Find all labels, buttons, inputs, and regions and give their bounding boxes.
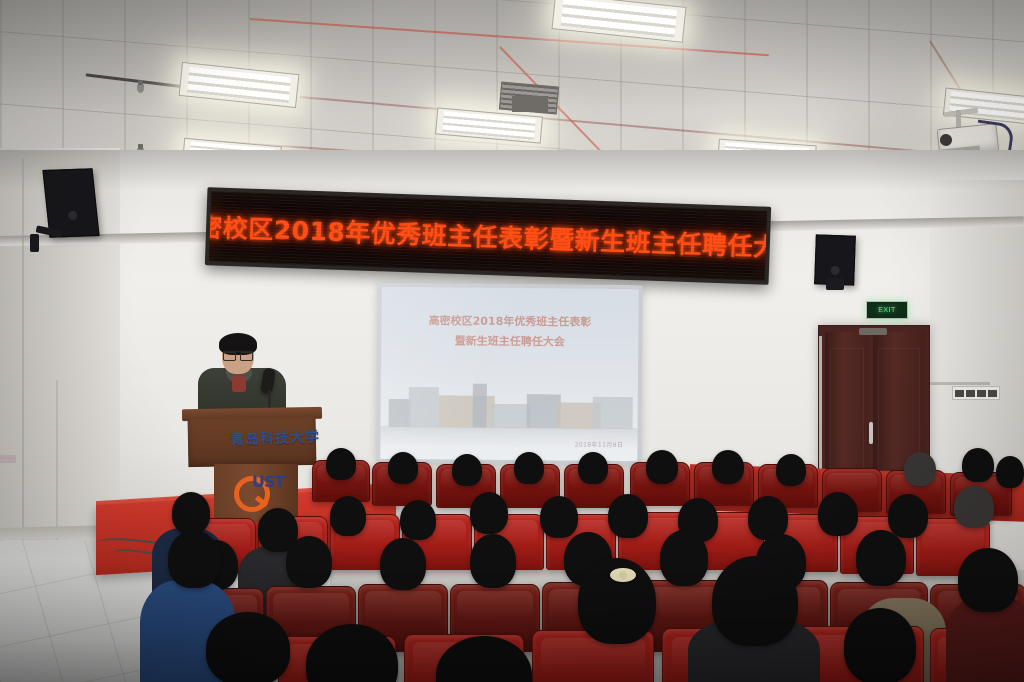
audience-head <box>660 530 708 586</box>
led-banner-text: 高密校区2018年优秀班主任表彰暨新生班主任聘任大会 <box>205 207 771 265</box>
audience-head <box>818 492 858 536</box>
audience-head <box>168 530 220 588</box>
loudspeaker-left <box>42 168 99 237</box>
audience-head <box>578 452 608 484</box>
audience-head <box>776 454 806 486</box>
glasses-icon <box>223 351 253 359</box>
audience-head <box>844 608 916 682</box>
audience-head <box>958 548 1018 612</box>
audience-head <box>400 500 436 540</box>
audience-head <box>962 448 994 482</box>
audience-head <box>206 612 290 682</box>
slide-title-line2: 暨新生班主任聘任大会 <box>381 331 638 353</box>
audience-head <box>712 556 798 646</box>
presenter-shirt <box>232 376 246 392</box>
ceiling-vent <box>512 96 548 112</box>
audience-head <box>856 530 906 586</box>
audience-head <box>172 492 210 534</box>
audience-head <box>888 494 928 538</box>
audience-head <box>954 486 994 528</box>
audience-head <box>286 536 332 588</box>
light-switch[interactable] <box>977 390 986 397</box>
audience-head <box>470 492 508 534</box>
audience-head <box>646 450 678 484</box>
sprinkler-head <box>137 84 144 93</box>
audience-head <box>996 456 1024 488</box>
audience-head <box>904 452 936 486</box>
audience-head <box>608 494 648 538</box>
auditorium-photo: 高密校区2018年优秀班主任表彰暨新生班主任聘任大会 高密校区2018年优秀班主… <box>0 0 1024 682</box>
speaker-bracket-right <box>826 278 844 290</box>
audience-area <box>0 430 1024 682</box>
slide-title: 高密校区2018年优秀班主任表彰 暨新生班主任聘任大会 <box>381 311 638 353</box>
hair-bow <box>610 568 636 582</box>
audience-head <box>380 538 426 590</box>
audience-head <box>540 496 578 538</box>
audience-head <box>514 452 544 484</box>
audience-head <box>388 452 418 484</box>
audience-head <box>452 454 482 486</box>
slide-title-line1: 高密校区2018年优秀班主任表彰 <box>429 314 592 328</box>
exit-sign-label: EXIT <box>878 307 896 314</box>
light-switch[interactable] <box>988 390 997 397</box>
light-switch[interactable] <box>955 390 964 397</box>
audience-head <box>330 496 366 536</box>
light-switch-panel[interactable] <box>952 386 1000 400</box>
wall-top-shadow <box>0 150 1024 190</box>
audience-head <box>470 534 516 588</box>
audience-head <box>326 448 356 480</box>
light-switch[interactable] <box>966 390 975 397</box>
audience-head <box>712 450 744 484</box>
speaker-bracket-left <box>30 234 39 252</box>
door-closer <box>859 328 887 335</box>
exit-sign: EXIT <box>866 301 908 319</box>
wall-trim <box>930 382 990 385</box>
